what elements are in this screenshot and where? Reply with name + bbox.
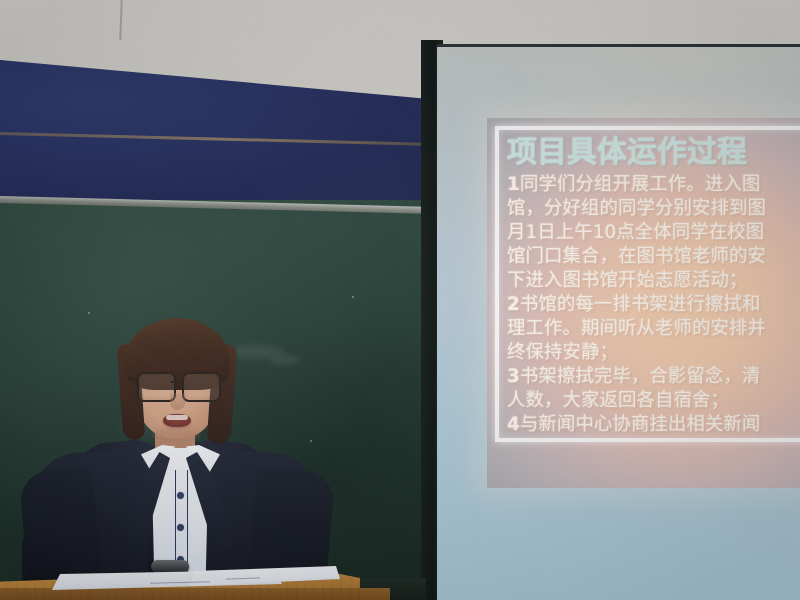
slide-line: 2书馆的每一排书架进行擦拭和: [507, 293, 800, 317]
glasses-lens-right: [182, 372, 221, 402]
glasses-bridge: [171, 381, 183, 383]
slide-line: 4与新闻中心协商挂出相关新闻: [507, 413, 800, 437]
slide-body-text: 1同学们分组开展工作。进入图 馆，分好组的同学分别安排到图 月1日上午10点全体…: [507, 173, 800, 438]
chalk-dot: [88, 312, 90, 314]
nose: [170, 393, 185, 410]
slide-line: 馆门口集合，在图书馆老师的安: [507, 245, 800, 269]
teeth: [166, 415, 188, 420]
slide-content: 项目具体运作过程 1同学们分组开展工作。进入图 馆，分好组的同学分别安排到图 月…: [507, 136, 800, 437]
slide-line: 月1日上午10点全体同学在校图: [507, 221, 800, 245]
projected-slide: 项目具体运作过程 1同学们分组开展工作。进入图 馆，分好组的同学分别安排到图 月…: [487, 118, 800, 488]
classroom-presentation-photo: 项目具体运作过程 1同学们分组开展工作。进入图 馆，分好组的同学分别安排到图 月…: [0, 0, 800, 600]
slide-line: 终保持安静；: [507, 341, 800, 365]
slide-line: 3书架擦拭完毕，合影留念，清: [507, 365, 800, 389]
slide-line: 1同学们分组开展工作。进入图: [507, 173, 800, 197]
chalk-dot: [310, 440, 312, 442]
projection-screen: 项目具体运作过程 1同学们分组开展工作。进入图 馆，分好组的同学分别安排到图 月…: [437, 44, 800, 600]
chin-shadow: [152, 428, 200, 442]
board-trim-strip: [0, 132, 440, 146]
chalk-dot: [352, 296, 354, 298]
slide-title: 项目具体运作过程: [507, 136, 800, 170]
screen-top-frame: [437, 44, 800, 47]
shirt-button: [177, 492, 184, 499]
slide-line: 下进入图书馆开始志愿活动；: [507, 269, 800, 293]
shirt-button: [177, 524, 184, 531]
chalk-smudge: [270, 355, 300, 365]
slide-line: 人数，大家返回各自宿舍；: [507, 389, 800, 413]
slide-line: 馆，分好组的同学分别安排到图: [507, 197, 800, 221]
microphone: [151, 560, 189, 573]
slide-line: 理工作。期间听从老师的安排并: [507, 317, 800, 341]
